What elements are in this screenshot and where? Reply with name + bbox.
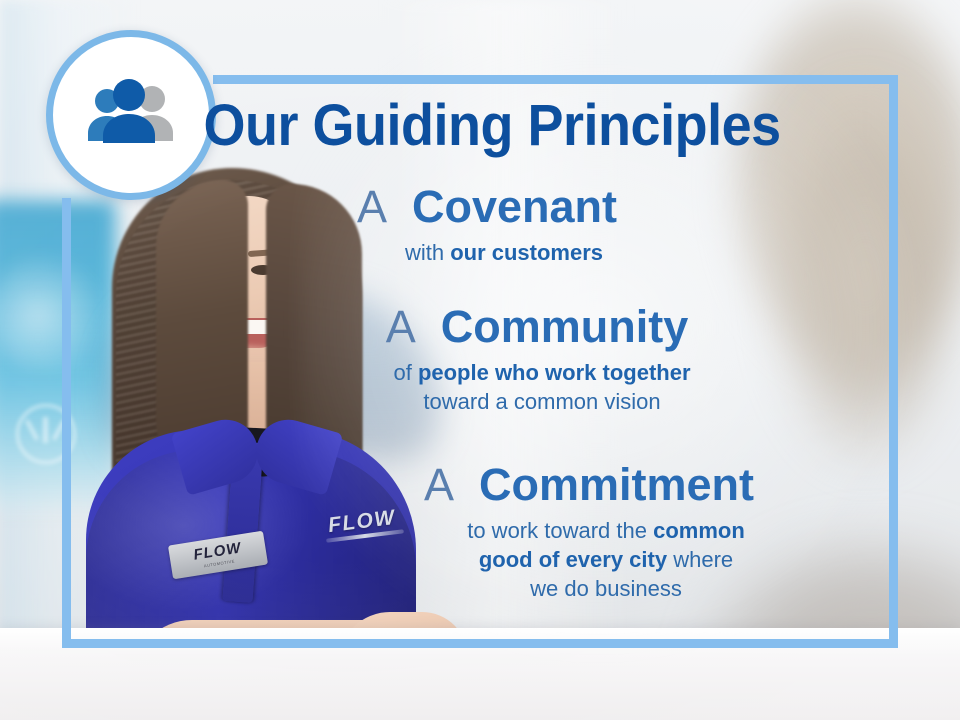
principle-2-subline: of people who work together [186, 358, 898, 387]
principle-3-subline: we do business [314, 574, 898, 603]
principle-1-word: Covenant [412, 181, 617, 232]
principle-2-article: A [386, 301, 429, 352]
principle-1-heading: A Covenant [62, 183, 898, 231]
principle-2-subtext: of people who work together toward a com… [62, 358, 898, 416]
principle-3: A Commitment to work toward the common g… [62, 461, 898, 603]
principle-2-word: Community [441, 301, 689, 352]
principle-2: A Community of people who work together … [62, 303, 898, 416]
page-title: Our Guiding Principles [91, 97, 868, 155]
principle-2-heading: A Community [62, 303, 898, 351]
principle-2-subline: toward a common vision [186, 387, 898, 416]
principle-1-article: A [357, 181, 400, 232]
guiding-principles-graphic: FLOW AUTOMOTIVE FLOW [0, 0, 960, 720]
text-block: Our Guiding Principles A Covenant with o… [62, 75, 898, 648]
principle-3-word: Commitment [479, 459, 754, 510]
principle-1: A Covenant with our customers [62, 183, 898, 267]
principle-3-subline: to work toward the common [314, 516, 898, 545]
principle-1-subline: with our customers [110, 238, 898, 267]
principle-1-subtext: with our customers [62, 238, 898, 267]
principle-3-heading: A Commitment [62, 461, 898, 509]
principle-3-article: A [424, 459, 467, 510]
principle-3-subline: good of every city where [314, 545, 898, 574]
principle-3-subtext: to work toward the common good of every … [62, 516, 898, 603]
